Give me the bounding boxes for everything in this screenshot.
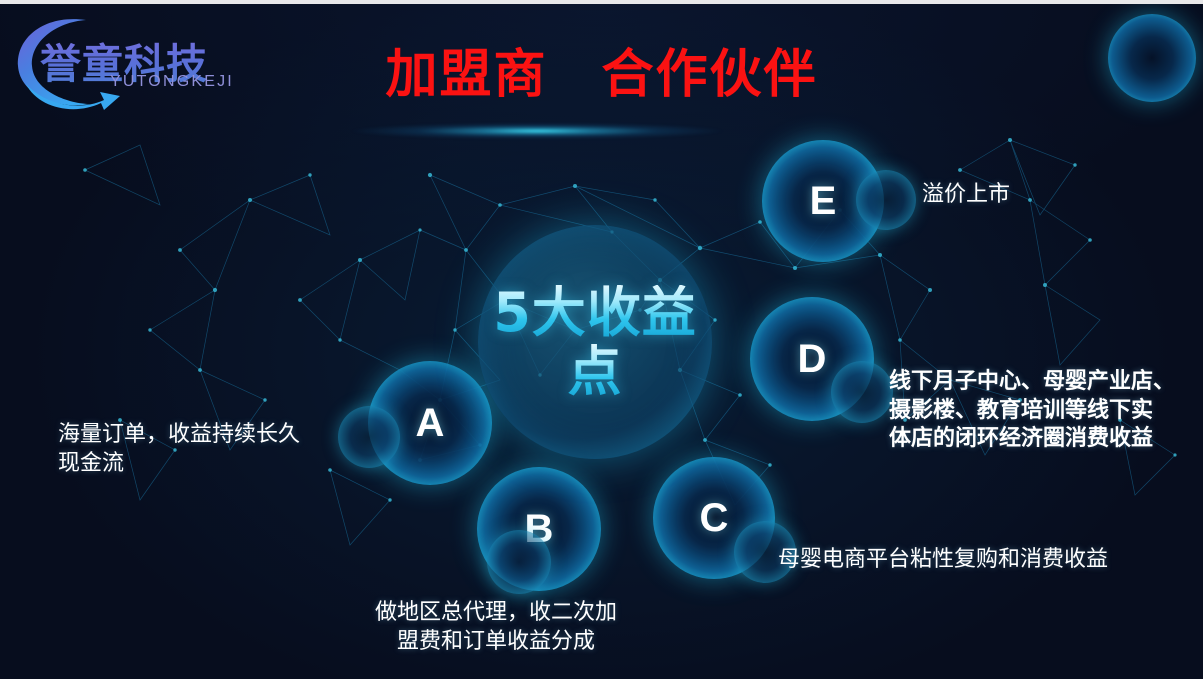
top-edge-strip: [0, 0, 1203, 4]
caption-a: 海量订单，收益持续长久 现金流: [58, 420, 388, 478]
presentation-slide: 誉童科技 YUTONGKEJI 加盟商 合作伙伴 5大收益 点 A 海量订单，收…: [0, 0, 1203, 679]
caption-e: 溢价上市: [922, 180, 1182, 209]
caption-b: 做地区总代理，收二次加 盟费和订单收益分成: [336, 598, 656, 656]
bubble-b-companion: [487, 530, 551, 594]
center-label-line1: 5大收益: [493, 285, 697, 340]
caption-c: 母婴电商平台粘性复购和消费收益: [778, 545, 1198, 574]
title-divider-glow: [287, 120, 787, 142]
bubble-e-companion: [856, 170, 916, 230]
slide-title-text: 加盟商 合作伙伴: [385, 45, 817, 105]
caption-d: 线下月子中心、母婴产业店、 摄影楼、教育培训等线下实 体店的闭环经济圈消费收益: [889, 368, 1203, 454]
center-sphere-label: 5大收益 点: [478, 225, 712, 459]
center-label-line2: 点: [568, 344, 623, 399]
slide-title: 加盟商 合作伙伴: [0, 32, 1203, 107]
bubble-d-companion: [831, 361, 893, 423]
